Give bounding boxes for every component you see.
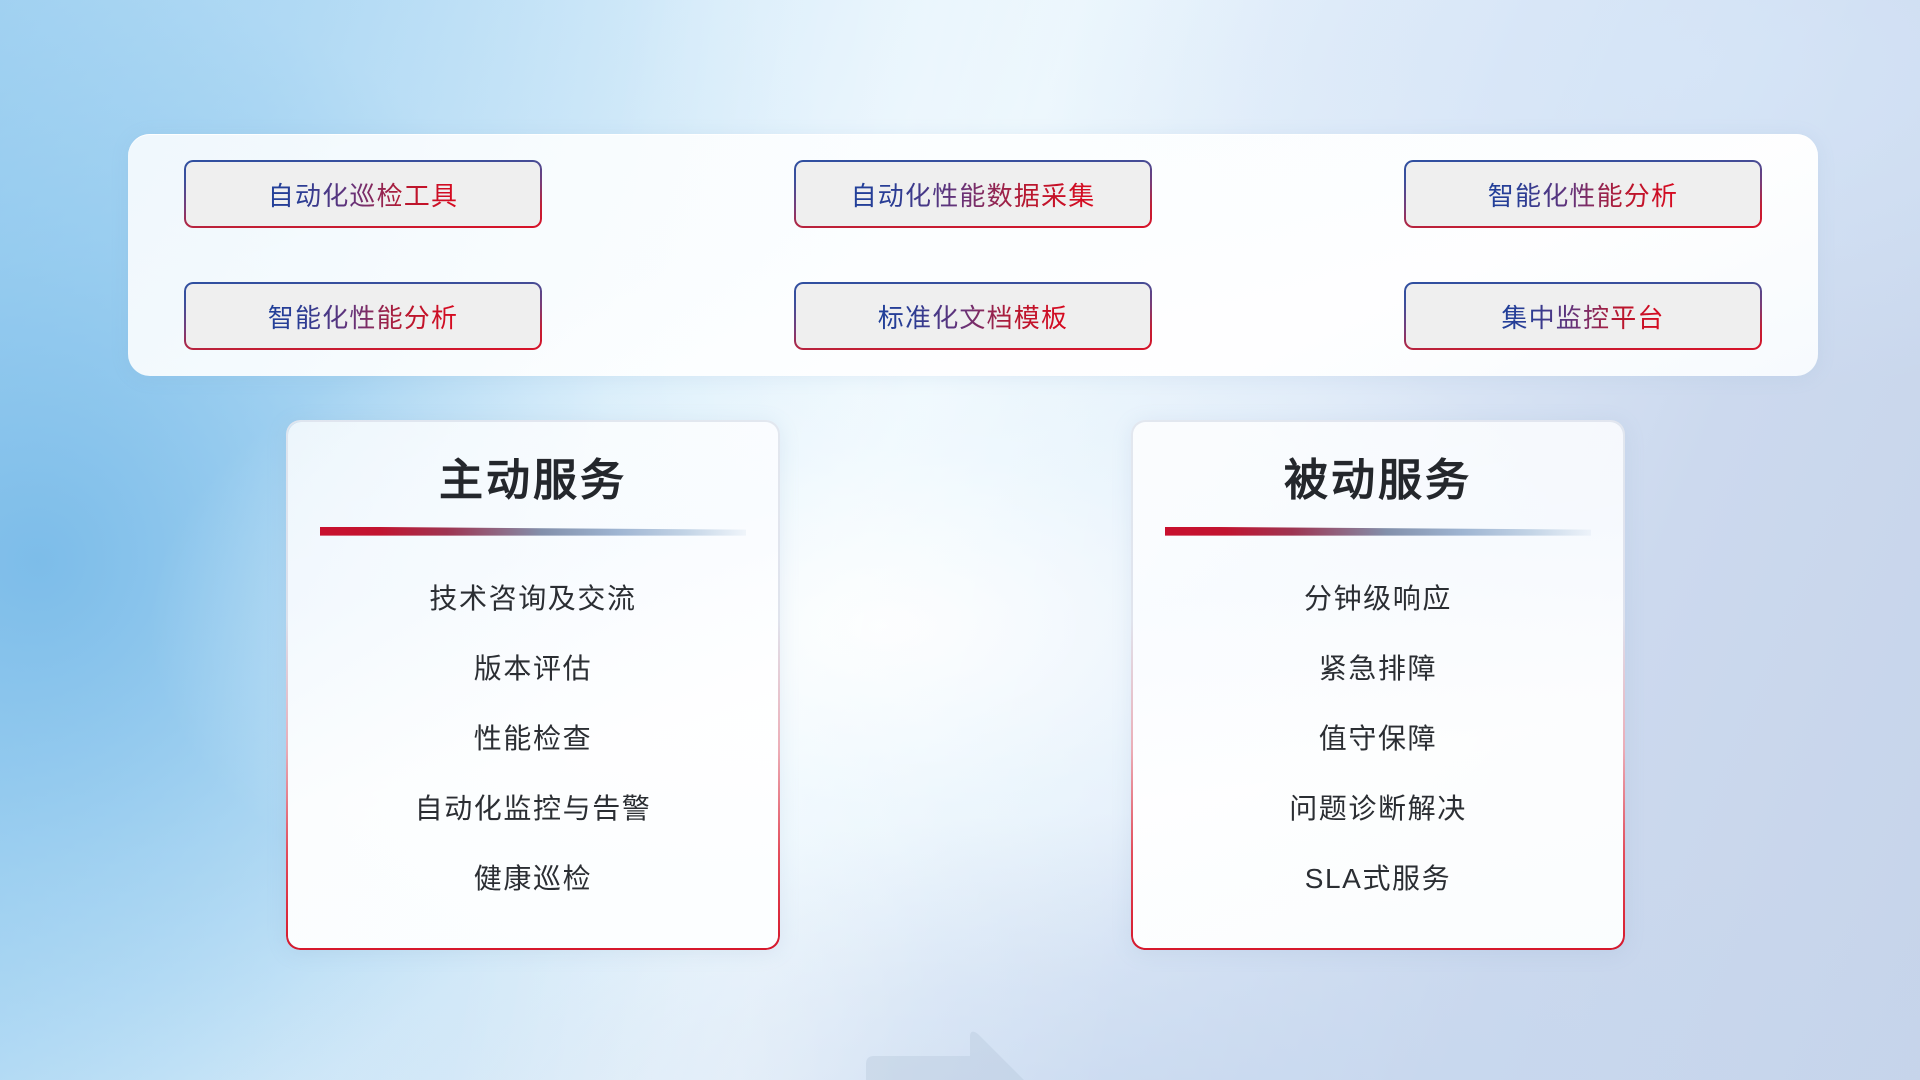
divider-gradient-bar: [1165, 527, 1591, 536]
capability-chip-intelligent-performance-analysis-b[interactable]: 智能化性能分析: [184, 282, 542, 350]
capability-chip-label: 自动化性能数据采集: [851, 176, 1096, 213]
service-item-list: 分钟级响应 紧急排障 值守保障 问题诊断解决 SLA式服务: [1163, 536, 1593, 922]
service-card-divider: [1165, 527, 1591, 536]
service-list-item: 分钟级响应: [1304, 577, 1452, 617]
service-card-title: 主动服务: [318, 456, 748, 507]
service-list-item: 性能检查: [474, 717, 592, 757]
service-card-body: 被动服务 分钟级响应 紧急排障 值守保障 问题诊断解决 SLA式服务: [1133, 422, 1623, 948]
capability-chip-centralized-monitoring-platform[interactable]: 集中监控平台: [1404, 282, 1762, 350]
capability-chip-label: 自动化巡检工具: [268, 176, 458, 213]
service-comparison-area: 主动服务 技术咨询及交流 版本评估 性能检查 自动化监控与告警 健康巡检: [0, 420, 1920, 960]
capability-chip-standardized-document-template[interactable]: 标准化文档模板: [794, 282, 1152, 350]
arrow-right-icon: [858, 1028, 1038, 1080]
capability-panel: 自动化巡检工具 自动化性能数据采集 智能化性能分析 智能化性能分析 标准化文档模…: [128, 134, 1818, 376]
service-list-item: SLA式服务: [1305, 857, 1452, 897]
divider-gradient-bar: [320, 527, 746, 536]
service-list-item: 版本评估: [474, 647, 592, 687]
capability-chip-intelligent-performance-analysis-a[interactable]: 智能化性能分析: [1404, 160, 1762, 228]
capability-chip-label: 智能化性能分析: [1488, 176, 1678, 213]
capability-chip-label: 智能化性能分析: [268, 298, 458, 335]
service-card-title: 被动服务: [1163, 456, 1593, 507]
service-list-item: 健康巡检: [474, 857, 592, 897]
slide-canvas: 自动化巡检工具 自动化性能数据采集 智能化性能分析 智能化性能分析 标准化文档模…: [0, 0, 1920, 1080]
capability-chip-label: 集中监控平台: [1501, 298, 1664, 335]
service-card-reactive[interactable]: 被动服务 分钟级响应 紧急排障 值守保障 问题诊断解决 SLA式服务: [1131, 420, 1625, 950]
service-card-body: 主动服务 技术咨询及交流 版本评估 性能检查 自动化监控与告警 健康巡检: [288, 422, 778, 948]
capability-row-1: 自动化巡检工具 自动化性能数据采集 智能化性能分析: [184, 160, 1762, 228]
service-card-divider: [320, 527, 746, 536]
service-list-item: 值守保障: [1319, 717, 1437, 757]
service-list-item: 技术咨询及交流: [429, 577, 636, 617]
service-list-item: 自动化监控与告警: [415, 787, 652, 827]
service-item-list: 技术咨询及交流 版本评估 性能检查 自动化监控与告警 健康巡检: [318, 536, 748, 922]
capability-row-2: 智能化性能分析 标准化文档模板 集中监控平台: [184, 282, 1762, 350]
service-list-item: 紧急排障: [1319, 647, 1437, 687]
capability-chip-automated-performance-data-collection[interactable]: 自动化性能数据采集: [794, 160, 1152, 228]
capability-chip-label: 标准化文档模板: [878, 298, 1068, 335]
service-list-item: 问题诊断解决: [1289, 787, 1467, 827]
service-card-proactive[interactable]: 主动服务 技术咨询及交流 版本评估 性能检查 自动化监控与告警 健康巡检: [286, 420, 780, 950]
capability-chip-automated-inspection-tool[interactable]: 自动化巡检工具: [184, 160, 542, 228]
